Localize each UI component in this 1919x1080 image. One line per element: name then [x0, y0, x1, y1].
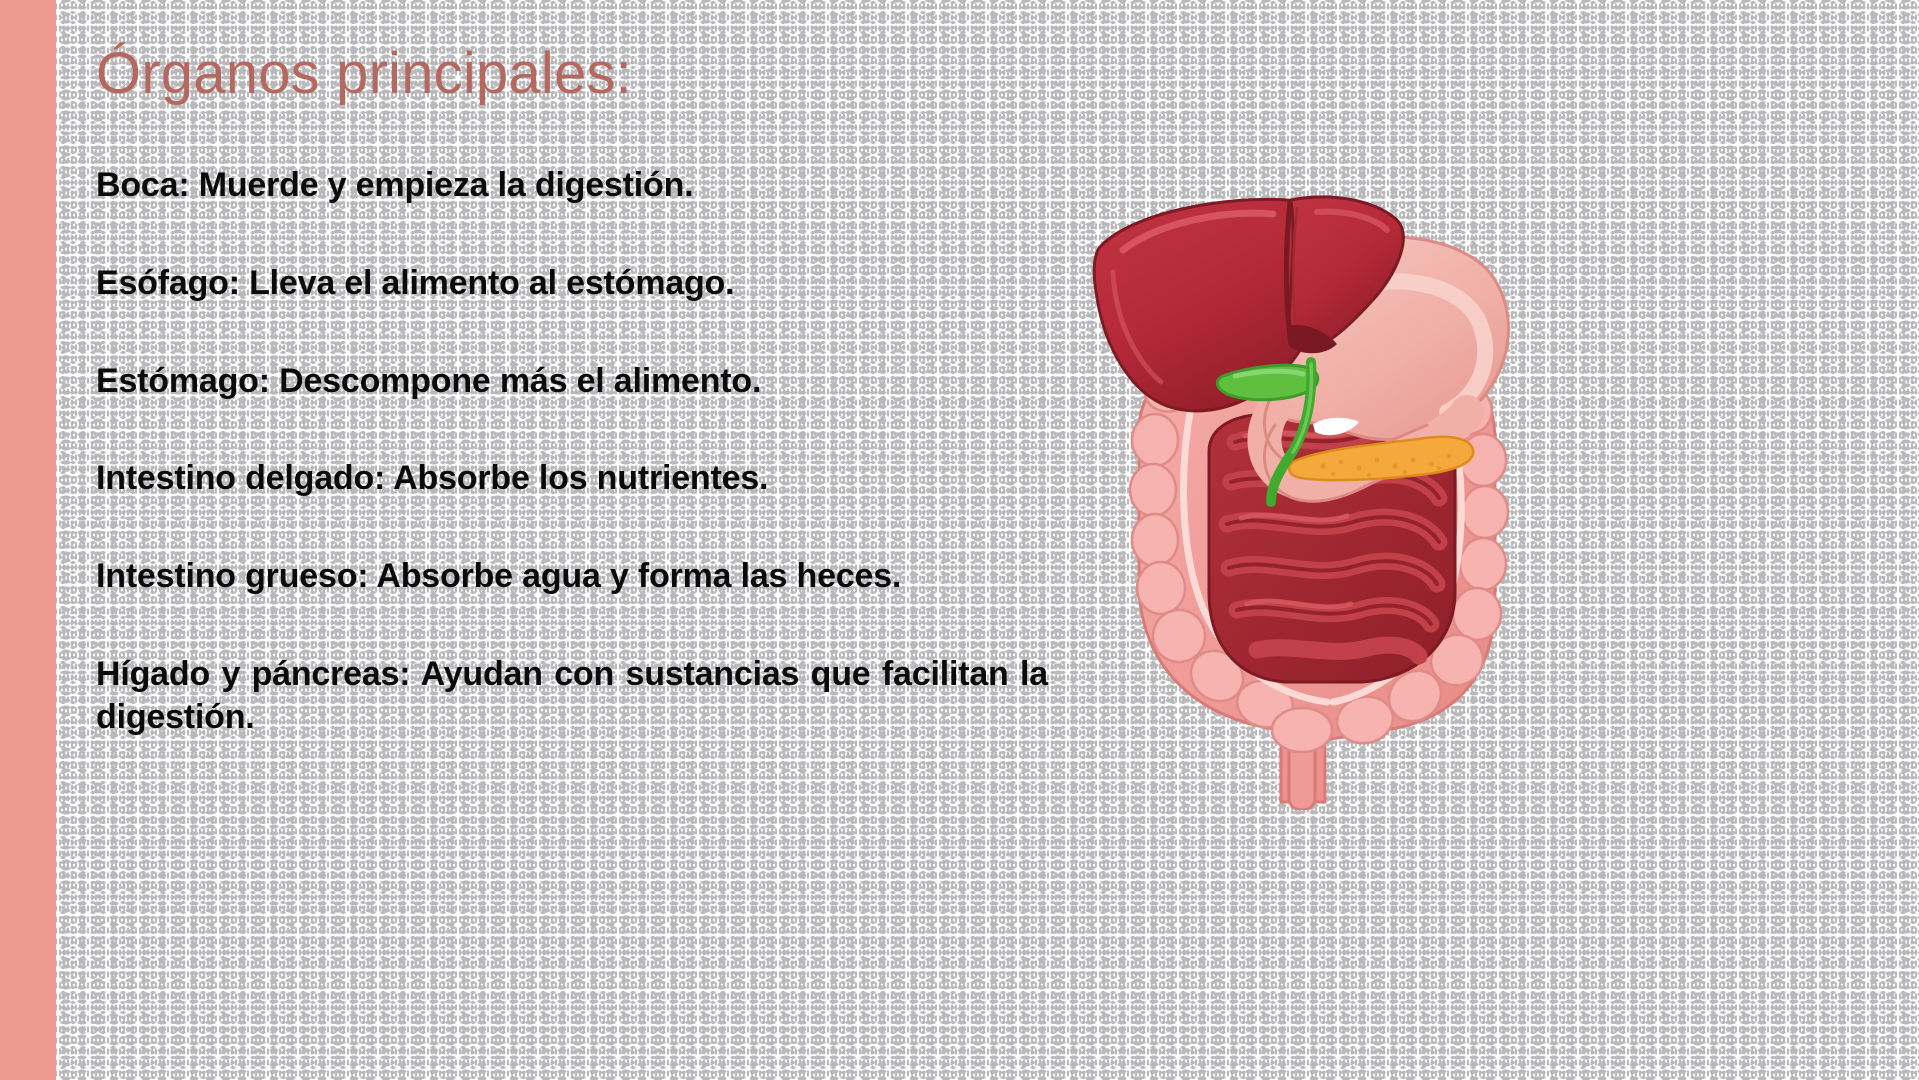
list-item: Boca: Muerde y empieza la digestión.: [96, 164, 1048, 207]
list-item: Hígado y páncreas: Ayudan con sustancias…: [96, 653, 1048, 739]
slide: Órganos principales: Boca: Muerde y empi…: [0, 0, 1919, 1080]
list-item: Estómago: Descompone más el alimento.: [96, 360, 1048, 403]
organ-list: Boca: Muerde y empieza la digestión. Esó…: [96, 164, 1048, 739]
list-item: Intestino grueso: Absorbe agua y forma l…: [96, 555, 1048, 598]
list-item: Esófago: Lleva el alimento al estómago.: [96, 262, 1048, 305]
digestive-system-illustration: [1075, 130, 1535, 810]
slide-content: Órganos principales: Boca: Muerde y empi…: [0, 0, 1919, 1080]
list-item: Intestino delgado: Absorbe los nutriente…: [96, 457, 1048, 500]
page-title: Órganos principales:: [96, 41, 632, 108]
